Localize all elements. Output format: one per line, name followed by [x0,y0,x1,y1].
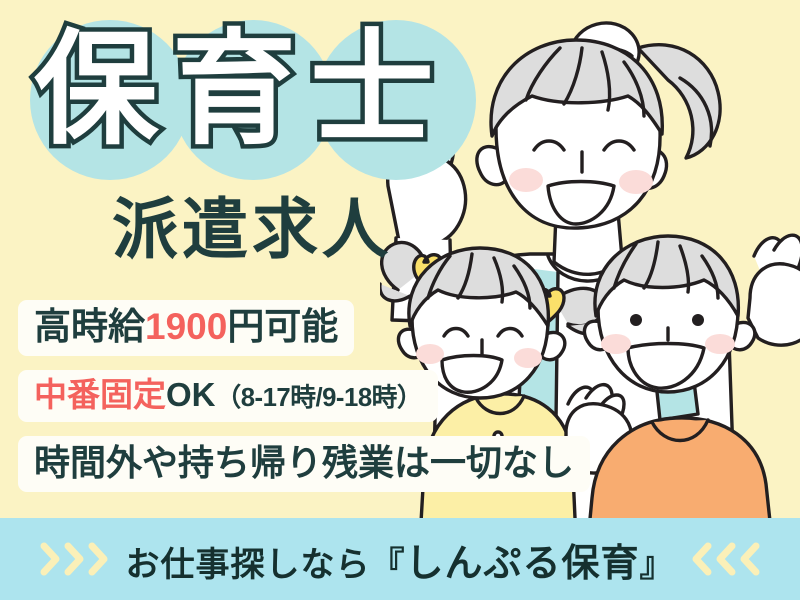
chevron-left-icon [691,542,712,576]
feature-overtime-text: 時間外や持ち帰り残業は一切なし [34,444,574,482]
feature-wage-suffix: 円可能 [227,306,338,347]
teacher-head [477,23,720,228]
feature-pill-overtime: 時間外や持ち帰り残業は一切なし [18,436,590,492]
feature-shift-ok: OK [166,376,216,413]
job-ad-banner: 保育士 派遣求人 高時給1900円可能 中番固定OK（8-17時/9-18時） … [0,0,800,600]
cta-brand-name: しんぷる保育 [405,543,639,585]
feature-wage-text: 高時給1900円可能 [34,308,338,347]
feature-shift-text: 中番固定OK（8-17時/9-18時） [34,378,422,413]
page-subtitle: 派遣求人 [112,196,392,262]
chevron-right-icon [40,542,61,576]
teacher-left-hand [388,133,466,322]
hairtie-left [414,255,442,288]
cta-text: お仕事探しなら『しんぷる保育』 [125,532,674,587]
feature-list: 高時給1900円可能 中番固定OK（8-17時/9-18時） 時間外や持ち帰り残… [18,300,578,506]
feature-wage-prefix: 高時給 [34,306,145,347]
chevron-right-icon [88,542,109,576]
cta-quote-close: 』 [640,546,675,584]
cta-bar: お仕事探しなら『しんぷる保育』 [0,518,800,600]
chevron-left-icon [715,542,736,576]
feature-wage-amount: 1900 [145,306,227,347]
cta-lead: お仕事探しなら [125,546,370,584]
chevron-left-icon [739,542,760,576]
page-title: 保育士 [34,28,484,152]
teacher-apron-right [644,268,698,420]
chevron-right-icon [64,542,85,576]
feature-pill-shift: 中番固定OK（8-17時/9-18時） [18,370,438,422]
chevrons-right [691,542,760,576]
chevrons-left [40,542,109,576]
feature-pill-wage: 高時給1900円可能 [18,300,354,356]
feature-shift-hours: （8-17時/9-18時） [216,384,423,412]
feature-shift-highlight: 中番固定 [34,376,166,413]
child-boy [584,235,800,540]
cta-quote-open: 『 [370,546,405,584]
